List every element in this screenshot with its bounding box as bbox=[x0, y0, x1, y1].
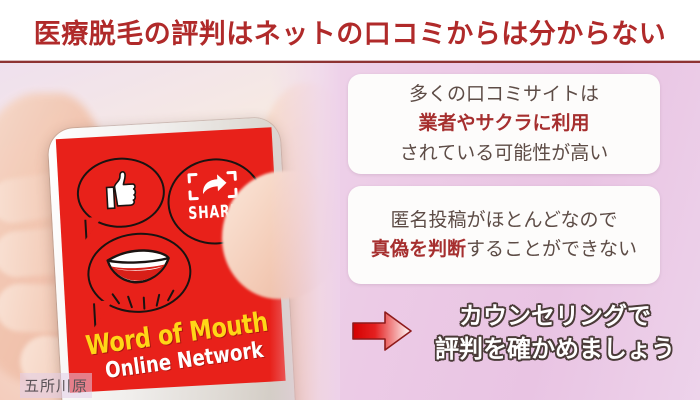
cta-block: カウンセリングで 評判を確かめましょう bbox=[424, 300, 686, 366]
card-text: されている可能性が高い bbox=[400, 142, 608, 164]
location-watermark: 五所川原 bbox=[20, 373, 92, 398]
card-text: 匿名投稿がほとんどなので bbox=[390, 209, 617, 231]
card-line: 匿名投稿がほとんどなので bbox=[390, 206, 617, 235]
card-line: 業者やサクラに利用 bbox=[418, 109, 589, 138]
page-title: 医療脱毛の評判はネットの口コミからは分からない bbox=[34, 12, 667, 51]
info-card: 多くの口コミサイトは 業者やサクラに利用 されている可能性が高い bbox=[348, 74, 660, 174]
right-arrow-icon bbox=[351, 309, 413, 353]
bubble-tail bbox=[95, 300, 114, 325]
cta-line-2: 評判を確かめましょう bbox=[424, 333, 686, 366]
info-card: 匿名投稿がほとんどなので 真偽を判断することができない bbox=[348, 186, 660, 284]
card-text-emphasis: 業者やサクラに利用 bbox=[418, 112, 589, 134]
phone-photo: SHARE Word of Mouth Online Network bbox=[0, 63, 340, 400]
card-line: されている可能性が高い bbox=[400, 139, 608, 168]
card-line: 多くの口コミサイトは bbox=[409, 80, 599, 109]
cta-line-1: カウンセリングで bbox=[424, 300, 686, 333]
bubble-tail bbox=[86, 217, 103, 238]
photo-fade-overlay bbox=[270, 63, 340, 400]
thumbs-up-icon bbox=[102, 169, 138, 211]
smiling-mouth-icon bbox=[104, 245, 172, 289]
card-text-emphasis: 真偽を判断 bbox=[371, 238, 466, 260]
card-text: することができない bbox=[466, 238, 637, 260]
card-line: 真偽を判断することができない bbox=[371, 235, 637, 264]
banner-header: 医療脱毛の評判はネットの口コミからは分からない bbox=[0, 0, 700, 63]
card-text: 多くの口コミサイトは bbox=[409, 83, 599, 105]
promo-banner: 医療脱毛の評判はネットの口コミからは分からない bbox=[0, 0, 700, 400]
